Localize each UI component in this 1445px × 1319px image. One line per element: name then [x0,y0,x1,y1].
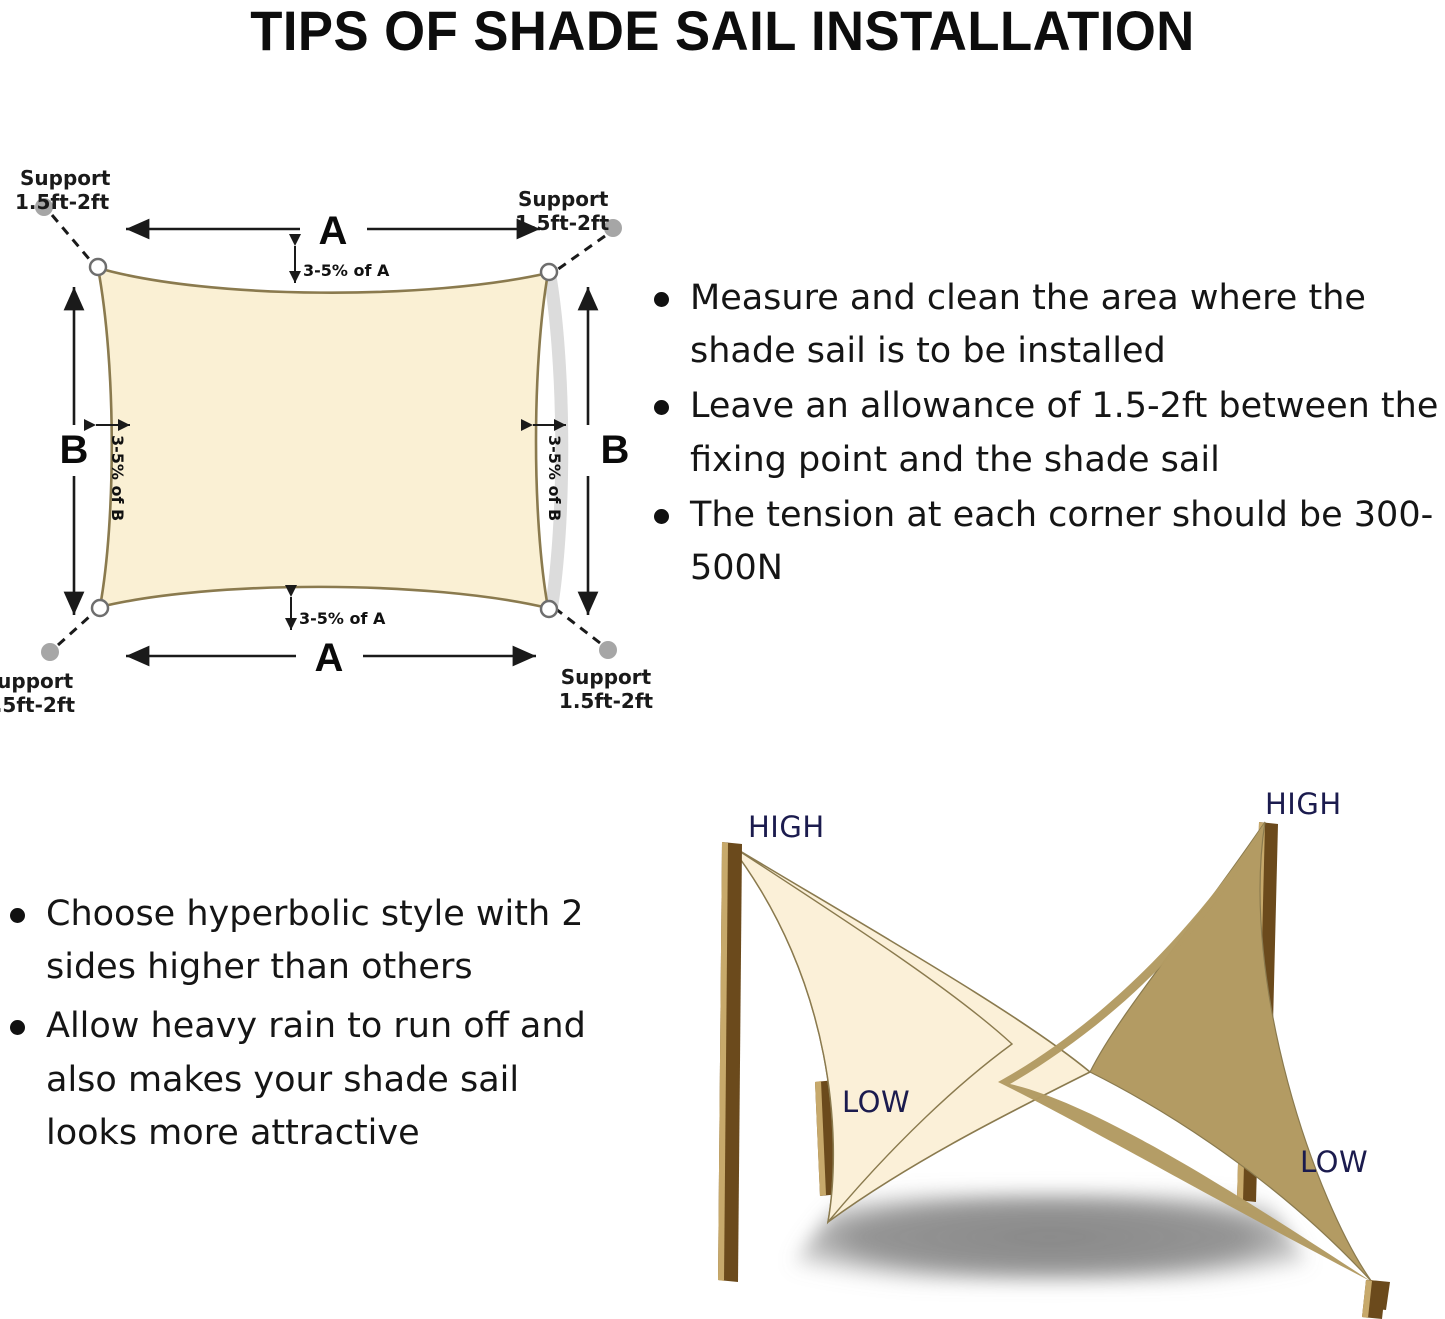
dimension-top-a: A [126,209,540,253]
curvature-label-left: 3-5% of B [108,435,127,521]
list-item-text: Leave an allowance of 1.5-2ft between th… [690,386,1438,479]
support-label-bottom-left: Support 1.5ft-2ft [0,669,76,717]
bullet-dot-icon [654,292,669,307]
support-leader-top-right [554,236,605,272]
support-label-top-left-line2: 1.5ft-2ft [15,190,110,214]
dimension-letter-a-top: A [319,209,348,253]
curvature-label-top: 3-5% of A [303,261,390,280]
curvature-left: 3-5% of B [96,425,130,521]
list-item: The tension at each corner should be 300… [648,489,1445,595]
curvature-label-bottom: 3-5% of A [299,609,386,628]
support-label-bottom-right-line1: Support [561,665,652,689]
support-label-bottom-right-line2: 1.5ft-2ft [559,689,654,713]
list-item-text: The tension at each corner should be 300… [690,495,1433,588]
dimension-letter-b-right: B [601,428,630,472]
hyperbolic-sail-svg: HIGH HIGH LOW LOW [660,782,1445,1319]
support-label-top-right: Support 1.5ft-2ft [515,187,610,235]
list-item-text: Allow heavy rain to run off and also mak… [46,1006,586,1152]
support-label-top-left: Support 1.5ft-2ft [15,166,111,214]
support-leader-bottom-right [556,609,600,643]
dimension-letter-a-bottom: A [315,636,344,680]
hyperbolic-sail-illustration: HIGH HIGH LOW LOW [660,782,1445,1319]
label-high-right: HIGH [1265,787,1342,821]
support-label-bottom-left-line2: 1.5ft-2ft [0,693,76,717]
support-dot-bottom-right [599,641,617,659]
post-high-left [718,842,742,1282]
rectangular-sail-diagram: A A B B 3-5% of A [0,160,660,740]
tips-list-left: Choose hyperbolic style with 2 sides hig… [4,888,619,1166]
support-label-top-right-line1: Support [518,187,609,211]
dimension-bottom-a: A [126,636,536,680]
list-item: Measure and clean the area where the sha… [648,272,1445,378]
sail-panel-left-highlight [730,845,1012,1222]
bullet-dot-icon [10,1020,25,1035]
curvature-label-right: 3-5% of B [545,435,564,521]
list-item: Leave an allowance of 1.5-2ft between th… [648,380,1445,486]
infographic-page: TIPS OF SHADE SAIL INSTALLATION [0,0,1445,1319]
bullet-dot-icon [654,400,669,415]
support-dot-bottom-left [41,643,59,661]
support-label-top-left-line1: Support [20,166,111,190]
support-label-top-right-line2: 1.5ft-2ft [515,211,610,235]
bullet-dot-icon [654,509,669,524]
list-item: Allow heavy rain to run off and also mak… [4,1000,619,1160]
support-label-bottom-left-line1: Support [0,669,74,693]
bullet-dot-icon [10,908,25,923]
list-item: Choose hyperbolic style with 2 sides hig… [4,888,619,994]
rectangular-sail-svg: A A B B 3-5% of A [0,160,660,740]
support-label-bottom-right: Support 1.5ft-2ft [559,665,654,713]
support-leader-top-left [52,215,95,266]
dimension-letter-b-left: B [60,428,89,472]
post-low-right [1362,1280,1390,1319]
curvature-bottom: 3-5% of A [291,597,386,630]
dimension-right-b: B [588,287,629,615]
tips-list-right: Measure and clean the area where the sha… [648,272,1445,597]
dimension-left-b: B [60,287,89,615]
shade-sail-shape [98,268,548,608]
label-low-right: LOW [1300,1145,1368,1179]
label-low-left: LOW [842,1085,910,1119]
page-title: TIPS OF SHADE SAIL INSTALLATION [43,0,1401,62]
list-item-text: Measure and clean the area where the sha… [690,278,1366,371]
label-high-left: HIGH [748,810,825,844]
list-item-text: Choose hyperbolic style with 2 sides hig… [46,894,584,987]
